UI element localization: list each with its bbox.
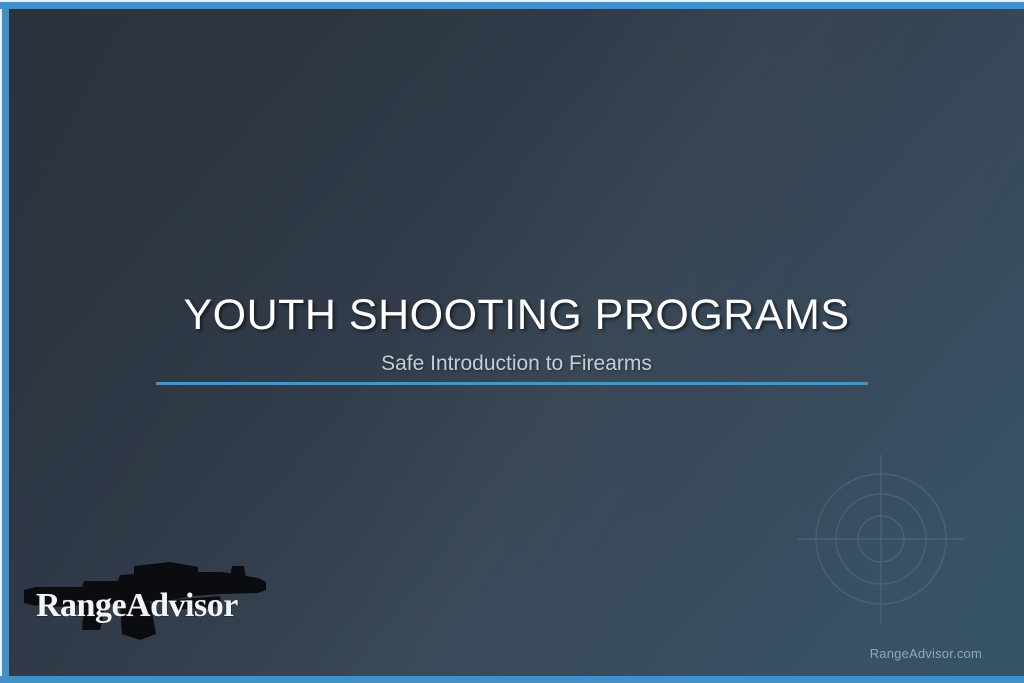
slide-canvas: YOUTH SHOOTING PROGRAMS Safe Introductio…: [9, 9, 1024, 676]
border-accent-left: [2, 2, 9, 683]
border-accent-top: [0, 2, 1024, 9]
slide-frame: YOUTH SHOOTING PROGRAMS Safe Introductio…: [0, 0, 1024, 683]
crosshair-target-icon: [792, 450, 970, 628]
title-block: YOUTH SHOOTING PROGRAMS Safe Introductio…: [9, 292, 1024, 377]
page-title: YOUTH SHOOTING PROGRAMS: [9, 292, 1024, 338]
page-subtitle: Safe Introduction to Firearms: [9, 351, 1024, 376]
brand-logo: RangeAdvisor: [22, 560, 278, 646]
border-accent-bottom: [0, 676, 1024, 683]
footer-url: RangeAdvisor.com: [870, 646, 982, 661]
title-divider-rule: [156, 382, 868, 385]
brand-wordmark: RangeAdvisor: [36, 587, 238, 624]
